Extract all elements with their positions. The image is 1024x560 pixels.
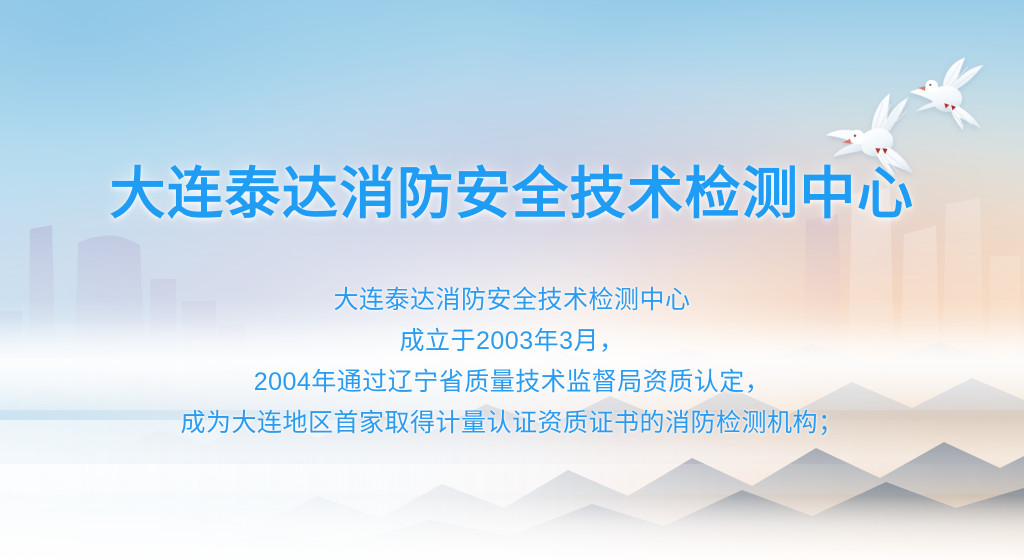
city-skyline-left-icon xyxy=(0,207,250,442)
sky-gradient-base xyxy=(0,0,1024,560)
sky-glow-cool xyxy=(0,0,1024,560)
banner-description: 大连泰达消防安全技术检测中心 成立于2003年3月， 2004年通过辽宁省质量技… xyxy=(0,280,1024,444)
banner-content: 大连泰达消防安全技术检测中心 大连泰达消防安全技术检测中心 成立于2003年3月… xyxy=(0,0,1024,560)
fog-veil-upper xyxy=(0,320,1024,410)
description-line-3: 2004年通过辽宁省质量技术监督局资质认定， xyxy=(0,362,1024,403)
violet-haze-band xyxy=(0,0,1024,560)
banner-image: 大连泰达消防安全技术检测中心 大连泰达消防安全技术检测中心 成立于2003年3月… xyxy=(0,0,1024,560)
dove-upper-icon xyxy=(903,50,998,133)
city-skyline-right-icon xyxy=(794,164,1024,434)
sky-glow-warm xyxy=(0,0,1024,560)
mountain-range-front xyxy=(0,464,1024,560)
fog-veil-lower xyxy=(0,414,1024,494)
mountain-range-mid xyxy=(0,358,1024,508)
fog-veil-bottom xyxy=(0,496,1024,560)
mountain-range-near xyxy=(0,420,1024,560)
description-line-4: 成为大连地区首家取得计量认证资质证书的消防检测机构； xyxy=(0,403,1024,444)
banner-title: 大连泰达消防安全技术检测中心 xyxy=(0,166,1024,222)
mountain-range-far xyxy=(0,322,1024,442)
dove-lower-icon xyxy=(820,87,932,183)
description-line-1: 大连泰达消防安全技术检测中心 xyxy=(0,280,1024,321)
description-line-2: 成立于2003年3月， xyxy=(0,321,1024,362)
text-backdrop-glow xyxy=(0,230,1024,460)
